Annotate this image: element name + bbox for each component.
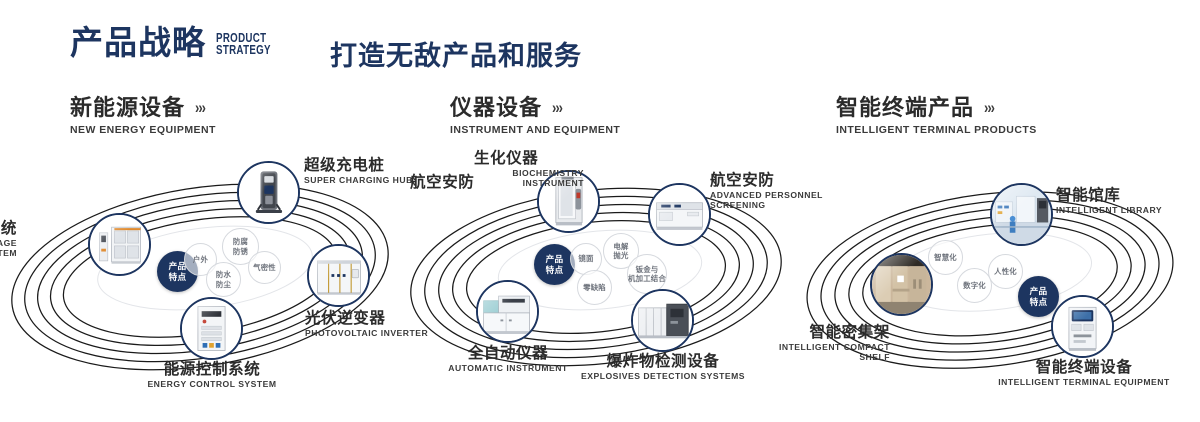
section-title-en: NEW ENERGY EQUIPMENT bbox=[70, 124, 216, 136]
node-energy-control-system[interactable] bbox=[180, 297, 243, 360]
node-energy-storage-system[interactable] bbox=[88, 213, 151, 276]
page-title-en: PRODUCT STRATEGY bbox=[216, 32, 271, 58]
diagram-intelligent-terminal: 智慧化 数字化 人性化 产品 特点 智能馆库 IN bbox=[800, 150, 1200, 400]
chevron-right-icon: ››› bbox=[552, 99, 562, 116]
page-header: 产品战略 PRODUCT STRATEGY bbox=[70, 26, 286, 59]
feature-bubble-3: 人性化 bbox=[988, 254, 1023, 289]
diagram-new-energy: 产品 特点 户外 防腐 防锈 防水 防尘 气密性 储能系统 bbox=[0, 150, 400, 400]
label-energy-storage-system: 储能系统 ENERGY STORAGE SYSTEM bbox=[0, 220, 17, 259]
node-intelligent-compact-shelf[interactable] bbox=[870, 253, 933, 316]
node-explosives-detection-systems[interactable] bbox=[631, 289, 694, 352]
section-title-instrument: 仪器设备 ››› INSTRUMENT AND EQUIPMENT bbox=[450, 96, 620, 136]
section-title-intelligent-terminal: 智能终端产品 ››› INTELLIGENT TERMINAL PRODUCTS bbox=[836, 96, 1037, 136]
label-energy-control-system: 能源控制系统 ENERGY CONTROL SYSTEM bbox=[84, 361, 340, 390]
feature-bubble-3: 零缺陷 bbox=[577, 270, 612, 305]
label-intelligent-terminal-equipment: 智能终端设备 INTELLIGENT TERMINAL EQUIPMENT bbox=[963, 359, 1200, 388]
label-biochemistry-instrument: 生化仪器 BIOCHEMISTRY INSTRUMENT bbox=[474, 150, 584, 189]
section-title-new-energy: 新能源设备 ››› NEW ENERGY EQUIPMENT bbox=[70, 96, 216, 136]
section-title-en: INSTRUMENT AND EQUIPMENT bbox=[450, 124, 620, 136]
feature-bubble-4: 钣金与 机加工结合 bbox=[627, 254, 667, 294]
node-intelligent-library[interactable] bbox=[990, 183, 1053, 246]
chevron-right-icon: ››› bbox=[195, 99, 205, 116]
label-automatic-instrument: 全自动仪器 AUTOMATIC INSTRUMENT bbox=[388, 345, 628, 374]
label-intelligent-compact-shelf: 智能密集架 INTELLIGENT COMPACT SHELF bbox=[720, 324, 890, 363]
core-bubble-product-features: 产品 特点 bbox=[534, 244, 575, 285]
page-slogan: 打造无敌产品和服务 bbox=[330, 34, 582, 73]
feature-bubble-4: 气密性 bbox=[248, 251, 281, 284]
node-intelligent-terminal-equipment[interactable] bbox=[1051, 295, 1114, 358]
node-automatic-instrument[interactable] bbox=[476, 280, 539, 343]
section-title-cn: 仪器设备 bbox=[450, 96, 542, 119]
feature-bubble-2: 数字化 bbox=[957, 268, 992, 303]
node-advanced-personnel-screening[interactable] bbox=[648, 183, 711, 246]
section-title-en: INTELLIGENT TERMINAL PRODUCTS bbox=[836, 124, 1037, 136]
feature-bubble-1: 智慧化 bbox=[928, 240, 963, 275]
page-title-cn: 产品战略 bbox=[70, 26, 206, 59]
feature-bubble-3: 防水 防尘 bbox=[206, 262, 241, 297]
section-title-cn: 智能终端产品 bbox=[836, 96, 974, 119]
section-title-cn: 新能源设备 bbox=[70, 96, 185, 119]
label-intelligent-library: 智能馆库 INTELLIGENT LIBRARY bbox=[1056, 187, 1200, 216]
product-strategy-infographic: 产品战略 PRODUCT STRATEGY 打造无敌产品和服务 新能源设备 ››… bbox=[0, 0, 1200, 422]
node-photovoltaic-inverter[interactable] bbox=[307, 244, 370, 307]
chevron-right-icon: ››› bbox=[984, 99, 994, 116]
node-super-charging-hub[interactable] bbox=[237, 161, 300, 224]
